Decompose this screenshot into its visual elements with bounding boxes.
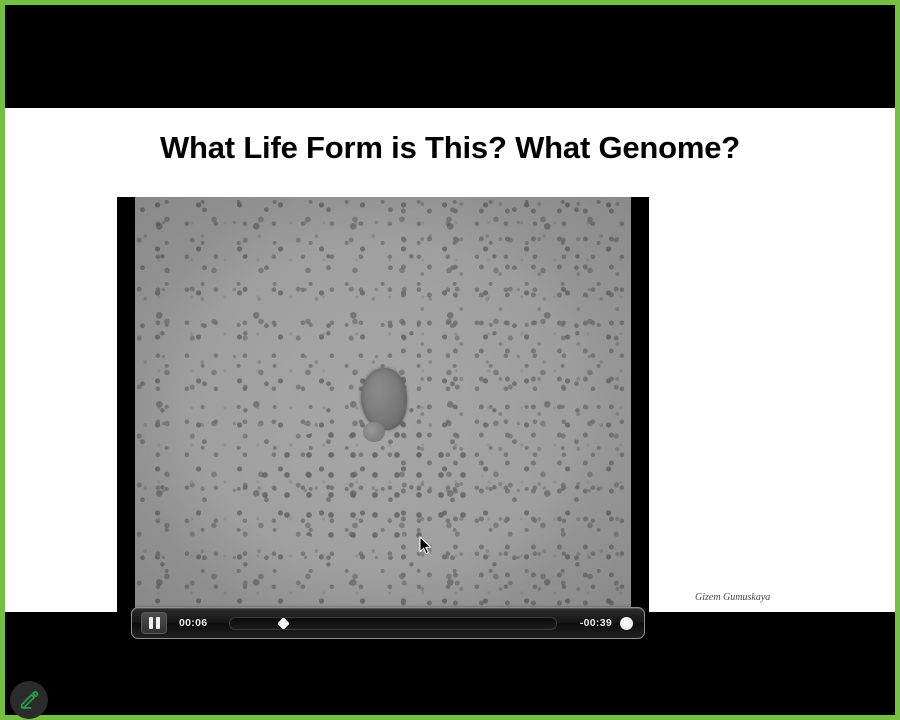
video-vignette xyxy=(135,197,631,612)
page-title: What Life Form is This? What Genome? xyxy=(5,130,895,166)
video-control-bar[interactable]: 00:06 -00:39 xyxy=(131,607,645,639)
video-player[interactable] xyxy=(117,197,649,612)
volume-knob-icon[interactable] xyxy=(620,617,633,630)
scrubber-handle[interactable] xyxy=(277,617,290,630)
pause-bar-left xyxy=(149,617,153,629)
edit-annotate-button[interactable] xyxy=(10,681,48,719)
media-attribution: Gizem Gumuskaya xyxy=(695,592,770,603)
top-letterbox-band xyxy=(5,5,895,108)
pencil-icon xyxy=(18,689,40,711)
elapsed-time-label: 00:06 xyxy=(179,617,219,629)
microscopy-video-frame xyxy=(135,197,631,612)
remaining-time-label: -00:39 xyxy=(572,617,612,629)
slide-canvas: What Life Form is This? What Genome? Giz… xyxy=(5,108,895,612)
presentation-screen: What Life Form is This? What Genome? Giz… xyxy=(0,0,900,720)
pause-bar-right xyxy=(156,617,160,629)
scrubber-track[interactable] xyxy=(229,617,557,630)
pause-icon[interactable] xyxy=(141,612,167,634)
